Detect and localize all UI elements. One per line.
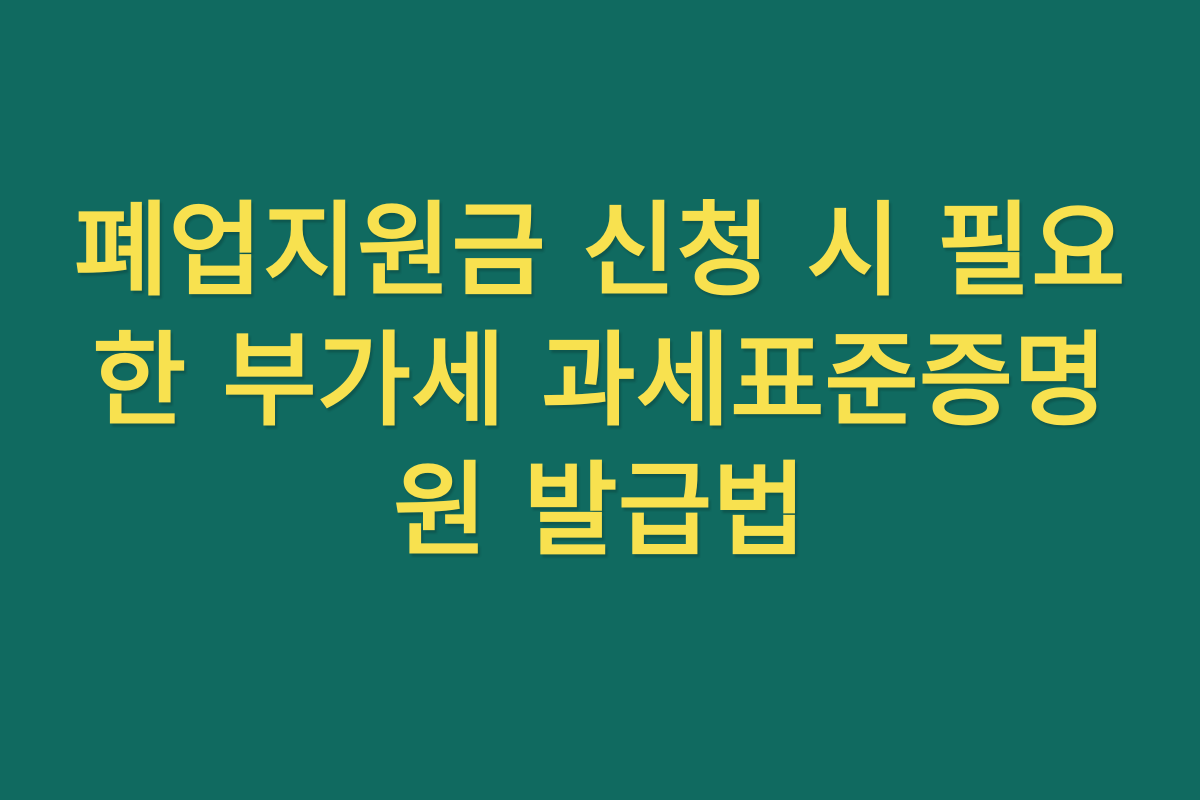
title-line-1: 폐업지원금 신청 시 필요 (70, 187, 1130, 317)
page-title: 폐업지원금 신청 시 필요 한 부가세 과세표준증명 원 발급법 (70, 187, 1130, 577)
thumbnail-card: 폐업지원금 신청 시 필요 한 부가세 과세표준증명 원 발급법 (0, 0, 1200, 800)
title-line-2: 한 부가세 과세표준증명 (70, 317, 1130, 447)
title-line-3: 원 발급법 (70, 447, 1130, 577)
